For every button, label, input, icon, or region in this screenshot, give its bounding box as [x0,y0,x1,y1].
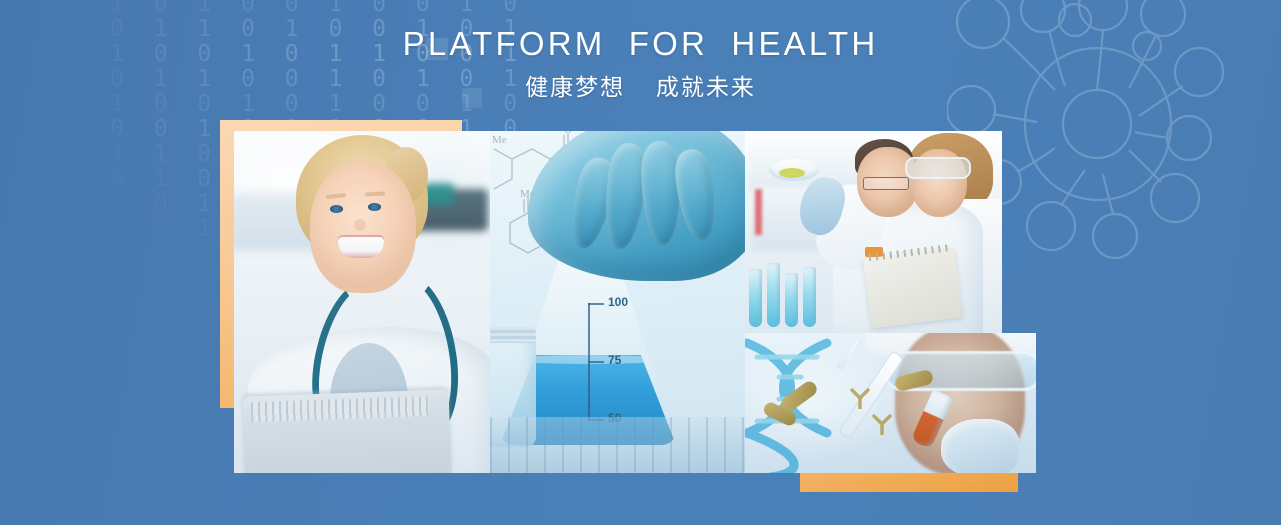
test-tube-rack [745,257,841,333]
sub-title-part2: 成就未来 [656,74,756,100]
health-platform-banner: 1 0 1 0 0 1 0 0 1 0 1 1 0 0 1 1 0 1 1 0 … [0,0,1281,525]
photo-doctor-portrait[interactable] [234,131,490,473]
binary-row: 0 1 1 0 1 0 0 1 0 1 0 0 0 1 1 0 [110,17,540,42]
glove-finger [672,147,720,243]
test-tube [785,273,798,327]
test-tube [803,267,816,327]
sub-title-part1: 健康梦想 [525,74,625,100]
antibody-icon [849,387,871,409]
svg-text:Me: Me [492,134,507,146]
spiral-notebook [863,248,963,329]
doctor-nose [354,219,366,231]
eyeglasses-icon [863,177,909,190]
binary-row: 1 0 0 1 0 1 0 0 1 0 0 0 0 0 1 1 [110,92,540,117]
flask-label-75: 75 [608,353,621,367]
photo-flask-experiment[interactable]: Me Me OH O 100 75 50 [490,131,745,473]
banner-sub-title: 健康梦想 成就未来 [0,72,1281,102]
photo-lab-scientists[interactable] [745,131,1002,333]
test-tube [767,263,780,327]
flask-label-100: 100 [608,295,628,309]
glove-finger [640,140,682,245]
flask-tick-75 [588,361,604,363]
doctor-eye-left [330,205,343,213]
doctor-smile [338,237,384,258]
antibody-icon [871,413,893,435]
lab-equipment-teal [424,183,454,205]
binary-row: 1 0 0 1 0 1 1 0 0 1 0 0 1 0 0 1 [110,42,540,67]
test-tube [749,269,762,327]
lab-bench-grid [490,417,745,473]
doctor-eye-right [368,203,381,211]
photo-dna-pipette[interactable] [745,333,1036,473]
binary-row: 0 1 1 0 0 1 0 1 0 1 1 0 1 0 1 0 [110,67,540,92]
binary-row: 1 0 1 0 0 1 0 0 1 0 1 1 0 0 1 1 [110,0,540,17]
photo-collage: Me Me OH O 100 75 50 [234,131,1002,473]
gloved-hand [528,131,745,281]
computer-monitor [243,389,452,473]
petri-dish [769,159,819,181]
title-block: PLATFORM FOR HEALTH 健康梦想 成就未来 [0,24,1281,102]
svg-text:O: O [564,131,572,136]
flask-tick-100 [588,303,604,305]
lab-instrument-red-marker [755,189,762,235]
gloved-hand [941,419,1019,473]
banner-main-title: PLATFORM FOR HEALTH [0,24,1281,64]
safety-goggles-icon [905,157,971,179]
